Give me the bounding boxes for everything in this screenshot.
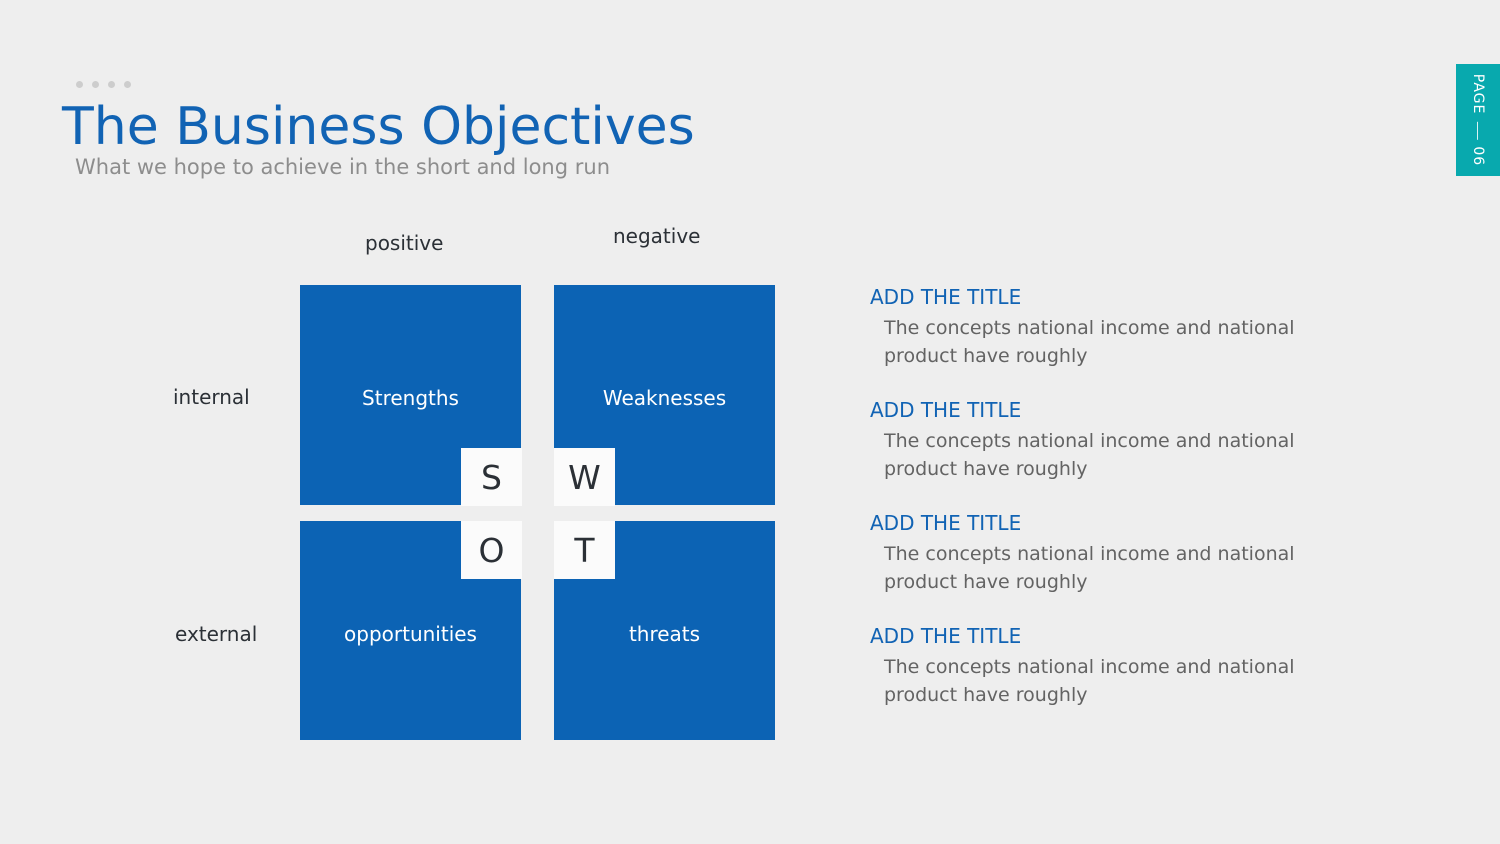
info-block: ADD THE TITLE The concepts national inco… [870,396,1350,483]
decorative-dot-icon [76,81,83,88]
info-block: ADD THE TITLE The concepts national inco… [870,509,1350,596]
info-block: ADD THE TITLE The concepts national inco… [870,622,1350,709]
info-block-body: The concepts national income and nationa… [870,427,1344,483]
swot-letter-tile-t: T [554,521,615,579]
axis-label-external: external [175,622,257,646]
page-title: The Business Objectives [62,96,695,158]
decorative-dot-icon [92,81,99,88]
swot-quadrant-label: opportunities [300,622,521,646]
page-badge-number: 06 [1470,146,1486,166]
info-block: ADD THE TITLE The concepts national inco… [870,283,1350,370]
page-badge-separator-icon [1478,121,1479,139]
info-block-body: The concepts national income and nationa… [870,314,1344,370]
swot-letter-tile-w: W [554,448,615,506]
swot-letter-tile-o: O [461,521,522,579]
page-subtitle: What we hope to achieve in the short and… [75,153,610,181]
page-badge-inner: PAGE 06 [1470,74,1486,166]
swot-letter-tile-s: S [461,448,522,506]
swot-quadrant-label: threats [554,622,775,646]
page-number-badge: PAGE 06 [1456,64,1500,176]
info-block-title: ADD THE TITLE [870,283,1350,311]
info-block-list: ADD THE TITLE The concepts national inco… [870,283,1350,709]
axis-label-positive: positive [365,231,443,255]
info-block-body: The concepts national income and nationa… [870,653,1344,709]
page-badge-label: PAGE [1470,74,1486,115]
axis-label-negative: negative [613,224,700,248]
axis-label-internal: internal [173,385,250,409]
swot-quadrant-label: Weaknesses [554,386,775,410]
swot-quadrant-label: Strengths [300,386,521,410]
swot-matrix: Strengths Weaknesses opportunities threa… [300,285,775,740]
slide-canvas: The Business Objectives What we hope to … [0,0,1500,844]
decorative-dot-icon [124,81,131,88]
info-block-title: ADD THE TITLE [870,509,1350,537]
info-block-title: ADD THE TITLE [870,622,1350,650]
info-block-title: ADD THE TITLE [870,396,1350,424]
decorative-dot-icon [108,81,115,88]
info-block-body: The concepts national income and nationa… [870,540,1344,596]
decorative-dots [76,81,131,88]
